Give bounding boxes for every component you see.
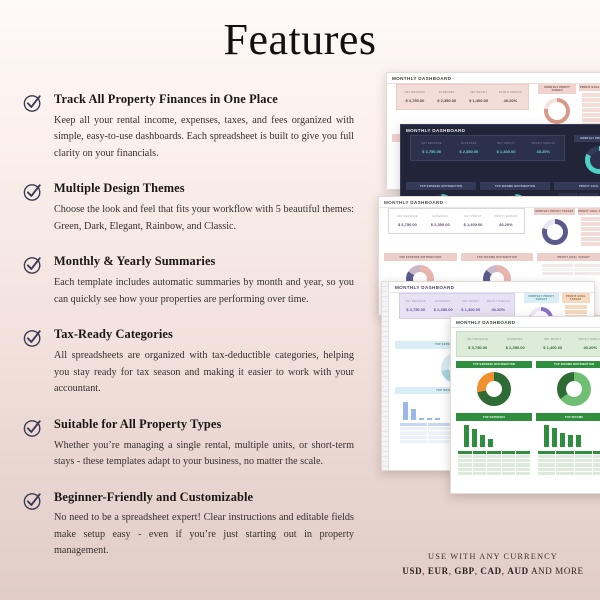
kpi-strip: NET REVENUE$ 3,750.00 EXPENSES$ 2,350.00… [410,135,565,161]
currency-heading: USE WITH ANY CURRENCY [390,552,596,561]
feature-body: Keep all your rental income, expenses, t… [54,113,360,163]
section-header: TOP EXPENSE DISTRIBUTION [467,134,538,141]
kpi-card: NET REVENUE$ 3,750.00 [391,215,424,227]
section-header: TOP INCOME [536,413,600,420]
mockup-elegant: MONTHLY DASHBOARD NET REVENUE$ 3,750.00 … [378,196,600,316]
panel-title: PROFIT GOAL TARGET [578,208,600,215]
expense-donut-chart [456,368,532,410]
kpi-card: PROFIT MARGIN40.20% [525,142,562,154]
section-header: TOP INCOME DISTRIBUTION [461,253,534,260]
mockup-dark: MONTHLY DASHBOARD NET REVENUE$ 3,750.00 … [400,124,600,240]
section-header: TOP EXPENSE DISTRIBUTION [384,300,457,307]
feature-title: Track All Property Finances in One Place [54,92,360,107]
section-header: PROFIT GOAL TARGET [541,134,600,141]
income-donut-chart [461,261,534,297]
kpi-card: EXPENSES$ 2,350.00 [430,300,458,312]
currency-code: EUR [428,566,449,576]
mockup-rainbow-title: MONTHLY DASHBOARD [390,282,594,293]
row-gutter [382,282,389,470]
expense-data-table [458,451,530,475]
kpi-card: NET PROFIT$ 1,400.00 [487,142,524,154]
feature-item: Monthly & Yearly Summaries Each template… [22,254,360,308]
kpi-card: NET REVENUE$ 3,750.00 [402,300,430,312]
kpi-card: NET REVENUE$ 3,750.00 [413,142,450,154]
gauge-donut-chart [538,94,576,128]
feature-item: Suitable for All Property Types Whether … [22,417,360,471]
section-header: PROFIT GOAL TARGET [537,253,600,260]
section-header: TOP EXPENSE DISTRIBUTION [395,341,517,348]
kpi-card: NET PROFIT$ 1,400.00 [457,215,490,227]
kpi-card: PROFIT MARGIN40.20% [572,338,600,350]
section-header: TOP EXPENSE DISTRIBUTION [406,182,476,189]
section-header: TOP INCOME DISTRIBUTION [395,387,517,394]
currency-code: GBP [454,566,474,576]
panel-title: PROFIT GOAL TARGET [562,293,590,303]
feature-body: No need to be a spreadsheet expert! Clea… [54,510,360,560]
currency-footer: USE WITH ANY CURRENCY USD, EUR, GBP, CAD… [390,552,596,576]
feature-body: Whether you’re managing a single rental,… [54,438,360,471]
kpi-card: NET PROFIT$ 1,400.00 [457,300,485,312]
feature-item: Tax-Ready Categories All spreadsheets ar… [22,327,360,397]
features-list: Track All Property Finances in One Place… [22,92,360,560]
data-table [559,193,600,205]
kpi-card: NET PROFIT$ 1,400.00 [534,338,572,350]
section-header: TOP INCOME DISTRIBUTION [536,361,600,368]
feature-body: All spreadsheets are organized with tax-… [54,348,360,398]
expense-donut-chart [395,349,517,387]
kpi-card: NET REVENUE$ 3,750.00 [459,338,497,350]
side-list [562,303,590,337]
mockup-dark-title: MONTHLY DASHBOARD [401,125,600,135]
feature-body: Choose the look and feel that fits your … [54,202,360,235]
mockup-rainbow: MONTHLY DASHBOARD NET REVENUE$ 3,750.00 … [381,281,595,471]
feature-title: Tax-Ready Categories [54,327,360,342]
section-header: PROFIT GOAL [554,182,600,189]
page-title: Features [0,0,600,64]
income-donut-chart [480,190,550,223]
feature-body: Each template includes automatic summari… [54,275,360,308]
side-list [579,91,600,130]
check-circle-icon [22,490,44,512]
panel-title: PROFIT GOAL TARGET [579,84,600,91]
panel-title: MONTHLY PROFIT TARGET [534,208,575,215]
mockup-elegant-title: MONTHLY DASHBOARD [379,197,600,208]
panel-title: MONTHLY PROFIT TARGET [574,135,600,142]
feature-title: Multiple Design Themes [54,181,360,196]
section-header: TOP EXPENSE DISTRIBUTION [392,134,463,141]
kpi-card: EXPENSES$ 2,350.00 [424,215,457,227]
currency-codes: USD, EUR, GBP, CAD, AUD AND MORE [390,566,596,576]
feature-item: Beginner-Friendly and Customizable No ne… [22,490,360,560]
mockup-classic-title: MONTHLY DASHBOARD [387,73,600,84]
currency-suffix: AND MORE [529,566,584,576]
bar-chart [395,394,517,420]
check-circle-icon [22,254,44,276]
feature-title: Suitable for All Property Types [54,417,360,432]
check-circle-icon [22,417,44,439]
data-table [400,423,512,443]
kpi-card: NET PROFIT$ 1,400.00 [463,91,495,103]
gauge-donut-chart [534,215,575,249]
expense-donut-chart [384,261,457,297]
currency-code: CAD [480,566,501,576]
currency-code: AUD [507,566,528,576]
mockup-green-title: MONTHLY DASHBOARD [451,317,600,328]
section-header: TOP EXPENSES [456,413,532,420]
mockup-green: MONTHLY DASHBOARD NET REVENUE$ 3,750.00 … [450,316,600,494]
feature-title: Beginner-Friendly and Customizable [54,490,360,505]
kpi-card: EXPENSES$ 2,350.00 [497,338,535,350]
section-header: TOP EXPENSE DISTRIBUTION [384,253,457,260]
gauge-donut-chart [524,303,559,335]
mockup-classic: MONTHLY DASHBOARD NET REVENUE$ 3,750.00 … [386,72,600,190]
side-list [578,215,600,249]
kpi-strip: NET REVENUE$ 3,750.00 EXPENSES$ 2,350.00… [456,331,600,357]
expense-bar-chart [456,421,532,447]
data-table [542,264,600,276]
feature-item: Multiple Design Themes Choose the look a… [22,181,360,235]
check-circle-icon [22,92,44,114]
kpi-card: NET REVENUE$ 3,750.00 [399,91,431,103]
section-header: TOP EXPENSE DISTRIBUTION [456,361,532,368]
currency-code: USD [402,566,422,576]
kpi-strip: NET REVENUE$ 3,750.00 EXPENSES$ 2,350.00… [396,84,529,110]
panel-title: MONTHLY PROFIT TARGET [538,84,576,94]
income-data-table [538,451,600,475]
expense-donut-chart [406,190,476,223]
gauge-donut-chart [574,142,600,178]
section-header: TOP INCOME DISTRIBUTION [461,300,534,307]
kpi-card: EXPENSES$ 2,350.00 [431,91,463,103]
kpi-card: EXPENSES$ 2,350.00 [450,142,487,154]
feature-item: Track All Property Finances in One Place… [22,92,360,162]
check-circle-icon [22,327,44,349]
kpi-card: PROFIT MARGIN40.20% [494,91,526,103]
section-header: TOP INCOME DISTRIBUTION [480,182,550,189]
kpi-strip: NET REVENUE$ 3,750.00 EXPENSES$ 2,350.00… [399,293,515,319]
income-bar-chart [536,421,600,447]
income-donut-chart [536,368,600,410]
kpi-strip: NET REVENUE$ 3,750.00 EXPENSES$ 2,350.00… [388,208,525,234]
kpi-card: PROFIT MARGIN40.20% [485,300,513,312]
kpi-card: PROFIT MARGIN40.20% [489,215,522,227]
feature-title: Monthly & Yearly Summaries [54,254,360,269]
panel-title: MONTHLY PROFIT TARGET [524,293,559,303]
check-circle-icon [22,181,44,203]
